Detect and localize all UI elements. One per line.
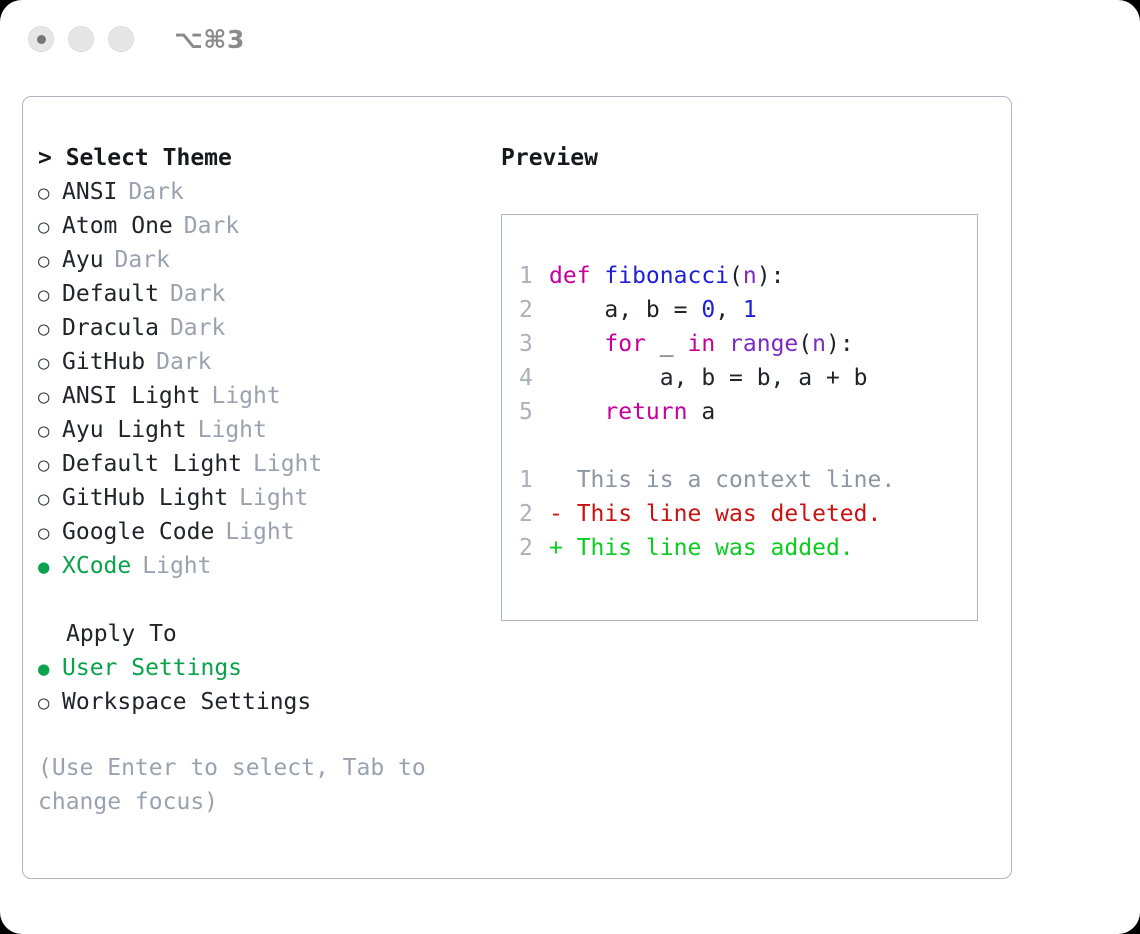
theme-option-label: Google Code — [62, 515, 214, 549]
radio-unselected-icon: ○ — [38, 482, 62, 516]
code-token: ): — [757, 263, 785, 289]
keyboard-shortcut-label: ⌥⌘3 — [174, 25, 245, 54]
code-token: ( — [729, 263, 743, 289]
app-window: ⌥⌘3 > Select Theme ○ANSIDark○Atom OneDar… — [0, 0, 1140, 934]
theme-option-variant: Light — [253, 447, 322, 481]
help-text: (Use Enter to select, Tab to change focu… — [38, 751, 446, 819]
diff-block: 1 This is a context line.2- This line wa… — [502, 463, 977, 565]
code-line-content: return a — [549, 395, 715, 429]
code-token: ): — [826, 331, 854, 357]
line-number: 4 — [519, 361, 549, 395]
theme-option-variant: Light — [211, 379, 280, 413]
window-dot-second-icon[interactable] — [68, 26, 94, 52]
code-token: , — [715, 297, 743, 323]
theme-option-label: GitHub Light — [62, 481, 228, 515]
apply-to-option-workspace-settings[interactable]: ○Workspace Settings — [38, 685, 478, 719]
code-line-content: for _ in range(n): — [549, 327, 854, 361]
code-token — [549, 331, 604, 357]
theme-option-ansi-light[interactable]: ○ANSI LightLight — [38, 379, 478, 413]
apply-to-option-list: ●User Settings○Workspace Settings — [38, 651, 478, 719]
theme-option-label: Dracula — [62, 311, 159, 345]
theme-option-variant: Light — [198, 413, 267, 447]
code-diff-gap — [502, 429, 977, 463]
diff-line-content: - This line was deleted. — [549, 497, 881, 531]
code-token — [715, 331, 729, 357]
code-token: 1 — [743, 297, 757, 323]
theme-option-atom-one[interactable]: ○Atom OneDark — [38, 209, 478, 243]
radio-selected-icon: ● — [38, 652, 62, 686]
line-number: 2 — [519, 531, 549, 565]
radio-unselected-icon: ○ — [38, 346, 62, 380]
theme-option-ayu-light[interactable]: ○Ayu LightLight — [38, 413, 478, 447]
theme-option-label: XCode — [62, 549, 131, 583]
line-number: 2 — [519, 293, 549, 327]
theme-option-default[interactable]: ○DefaultDark — [38, 277, 478, 311]
theme-option-variant: Light — [225, 515, 294, 549]
code-token: a, b = b, a + b — [549, 365, 868, 391]
line-number: 2 — [519, 497, 549, 531]
code-token: def — [549, 263, 604, 289]
preview-column: Preview 1def fibonacci(n):2 a, b = 0, 13… — [501, 141, 991, 621]
theme-option-github[interactable]: ○GitHubDark — [38, 345, 478, 379]
theme-option-label: Ayu Light — [62, 413, 187, 447]
window-dot-active-inner-icon — [37, 35, 46, 44]
diff-line-content: This is a context line. — [549, 463, 895, 497]
theme-option-label: ANSI — [62, 175, 117, 209]
theme-option-label: GitHub — [62, 345, 145, 379]
theme-option-variant: Light — [142, 549, 211, 583]
theme-option-ayu[interactable]: ○AyuDark — [38, 243, 478, 277]
code-token: n — [812, 331, 826, 357]
code-preview-panel: 1def fibonacci(n):2 a, b = 0, 13 for _ i… — [501, 214, 978, 621]
radio-unselected-icon: ○ — [38, 448, 62, 482]
theme-picker-column: > Select Theme ○ANSIDark○Atom OneDark○Ay… — [38, 141, 478, 819]
code-token: 0 — [701, 297, 715, 323]
radio-unselected-icon: ○ — [38, 414, 62, 448]
line-number: 1 — [519, 463, 549, 497]
main-panel: > Select Theme ○ANSIDark○Atom OneDark○Ay… — [22, 96, 1012, 879]
code-line: 4 a, b = b, a + b — [502, 361, 977, 395]
apply-to-option-label: Workspace Settings — [62, 685, 311, 719]
theme-option-xcode[interactable]: ●XCodeLight — [38, 549, 478, 583]
code-token: range — [729, 331, 798, 357]
diff-line-del: 2- This line was deleted. — [502, 497, 977, 531]
code-line-content: def fibonacci(n): — [549, 259, 784, 293]
code-line-content: a, b = b, a + b — [549, 361, 868, 395]
radio-unselected-icon: ○ — [38, 516, 62, 550]
apply-to-heading: Apply To — [38, 617, 478, 651]
code-line: 1def fibonacci(n): — [502, 259, 977, 293]
line-number: 5 — [519, 395, 549, 429]
radio-unselected-icon: ○ — [38, 312, 62, 346]
code-token: for — [604, 331, 646, 357]
apply-to-option-user-settings[interactable]: ●User Settings — [38, 651, 478, 685]
code-token: fibonacci — [604, 263, 729, 289]
select-theme-heading: > Select Theme — [38, 141, 478, 175]
code-token: _ — [646, 331, 688, 357]
theme-option-ansi[interactable]: ○ANSIDark — [38, 175, 478, 209]
preview-heading: Preview — [501, 141, 991, 175]
radio-unselected-icon: ○ — [38, 210, 62, 244]
theme-option-label: Atom One — [62, 209, 173, 243]
theme-option-variant: Dark — [128, 175, 183, 209]
code-token: return — [604, 399, 687, 425]
code-block: 1def fibonacci(n):2 a, b = 0, 13 for _ i… — [502, 259, 977, 429]
code-token: a, b = — [549, 297, 701, 323]
theme-option-list: ○ANSIDark○Atom OneDark○AyuDark○DefaultDa… — [38, 175, 478, 583]
theme-option-variant: Light — [239, 481, 308, 515]
code-token — [549, 399, 604, 425]
theme-option-label: Default Light — [62, 447, 242, 481]
code-token: a — [687, 399, 715, 425]
theme-option-default-light[interactable]: ○Default LightLight — [38, 447, 478, 481]
theme-option-variant: Dark — [184, 209, 239, 243]
code-line-content: a, b = 0, 1 — [549, 293, 757, 327]
theme-option-variant: Dark — [156, 345, 211, 379]
theme-option-google-code[interactable]: ○Google CodeLight — [38, 515, 478, 549]
radio-unselected-icon: ○ — [38, 380, 62, 414]
diff-line-ctx: 1 This is a context line. — [502, 463, 977, 497]
code-line: 3 for _ in range(n): — [502, 327, 977, 361]
apply-to-option-label: User Settings — [62, 651, 242, 685]
theme-option-label: ANSI Light — [62, 379, 200, 413]
diff-line-content: + This line was added. — [549, 531, 854, 565]
line-number: 3 — [519, 327, 549, 361]
code-token: ( — [798, 331, 812, 357]
window-controls — [28, 26, 134, 52]
radio-selected-icon: ● — [38, 550, 62, 584]
radio-unselected-icon: ○ — [38, 176, 62, 210]
code-token: in — [687, 331, 715, 357]
code-line: 5 return a — [502, 395, 977, 429]
code-line: 2 a, b = 0, 1 — [502, 293, 977, 327]
window-dot-active-icon[interactable] — [28, 26, 54, 52]
line-number: 1 — [519, 259, 549, 293]
diff-line-add: 2+ This line was added. — [502, 531, 977, 565]
window-dot-third-icon[interactable] — [108, 26, 134, 52]
radio-unselected-icon: ○ — [38, 244, 62, 278]
code-token: n — [743, 263, 757, 289]
theme-option-variant: Dark — [115, 243, 170, 277]
theme-option-github-light[interactable]: ○GitHub LightLight — [38, 481, 478, 515]
theme-option-dracula[interactable]: ○DraculaDark — [38, 311, 478, 345]
section-gap — [38, 583, 478, 617]
theme-option-label: Default — [62, 277, 159, 311]
title-bar: ⌥⌘3 — [0, 0, 1140, 78]
theme-option-variant: Dark — [170, 277, 225, 311]
theme-option-label: Ayu — [62, 243, 104, 277]
radio-unselected-icon: ○ — [38, 686, 62, 720]
radio-unselected-icon: ○ — [38, 278, 62, 312]
theme-option-variant: Dark — [170, 311, 225, 345]
